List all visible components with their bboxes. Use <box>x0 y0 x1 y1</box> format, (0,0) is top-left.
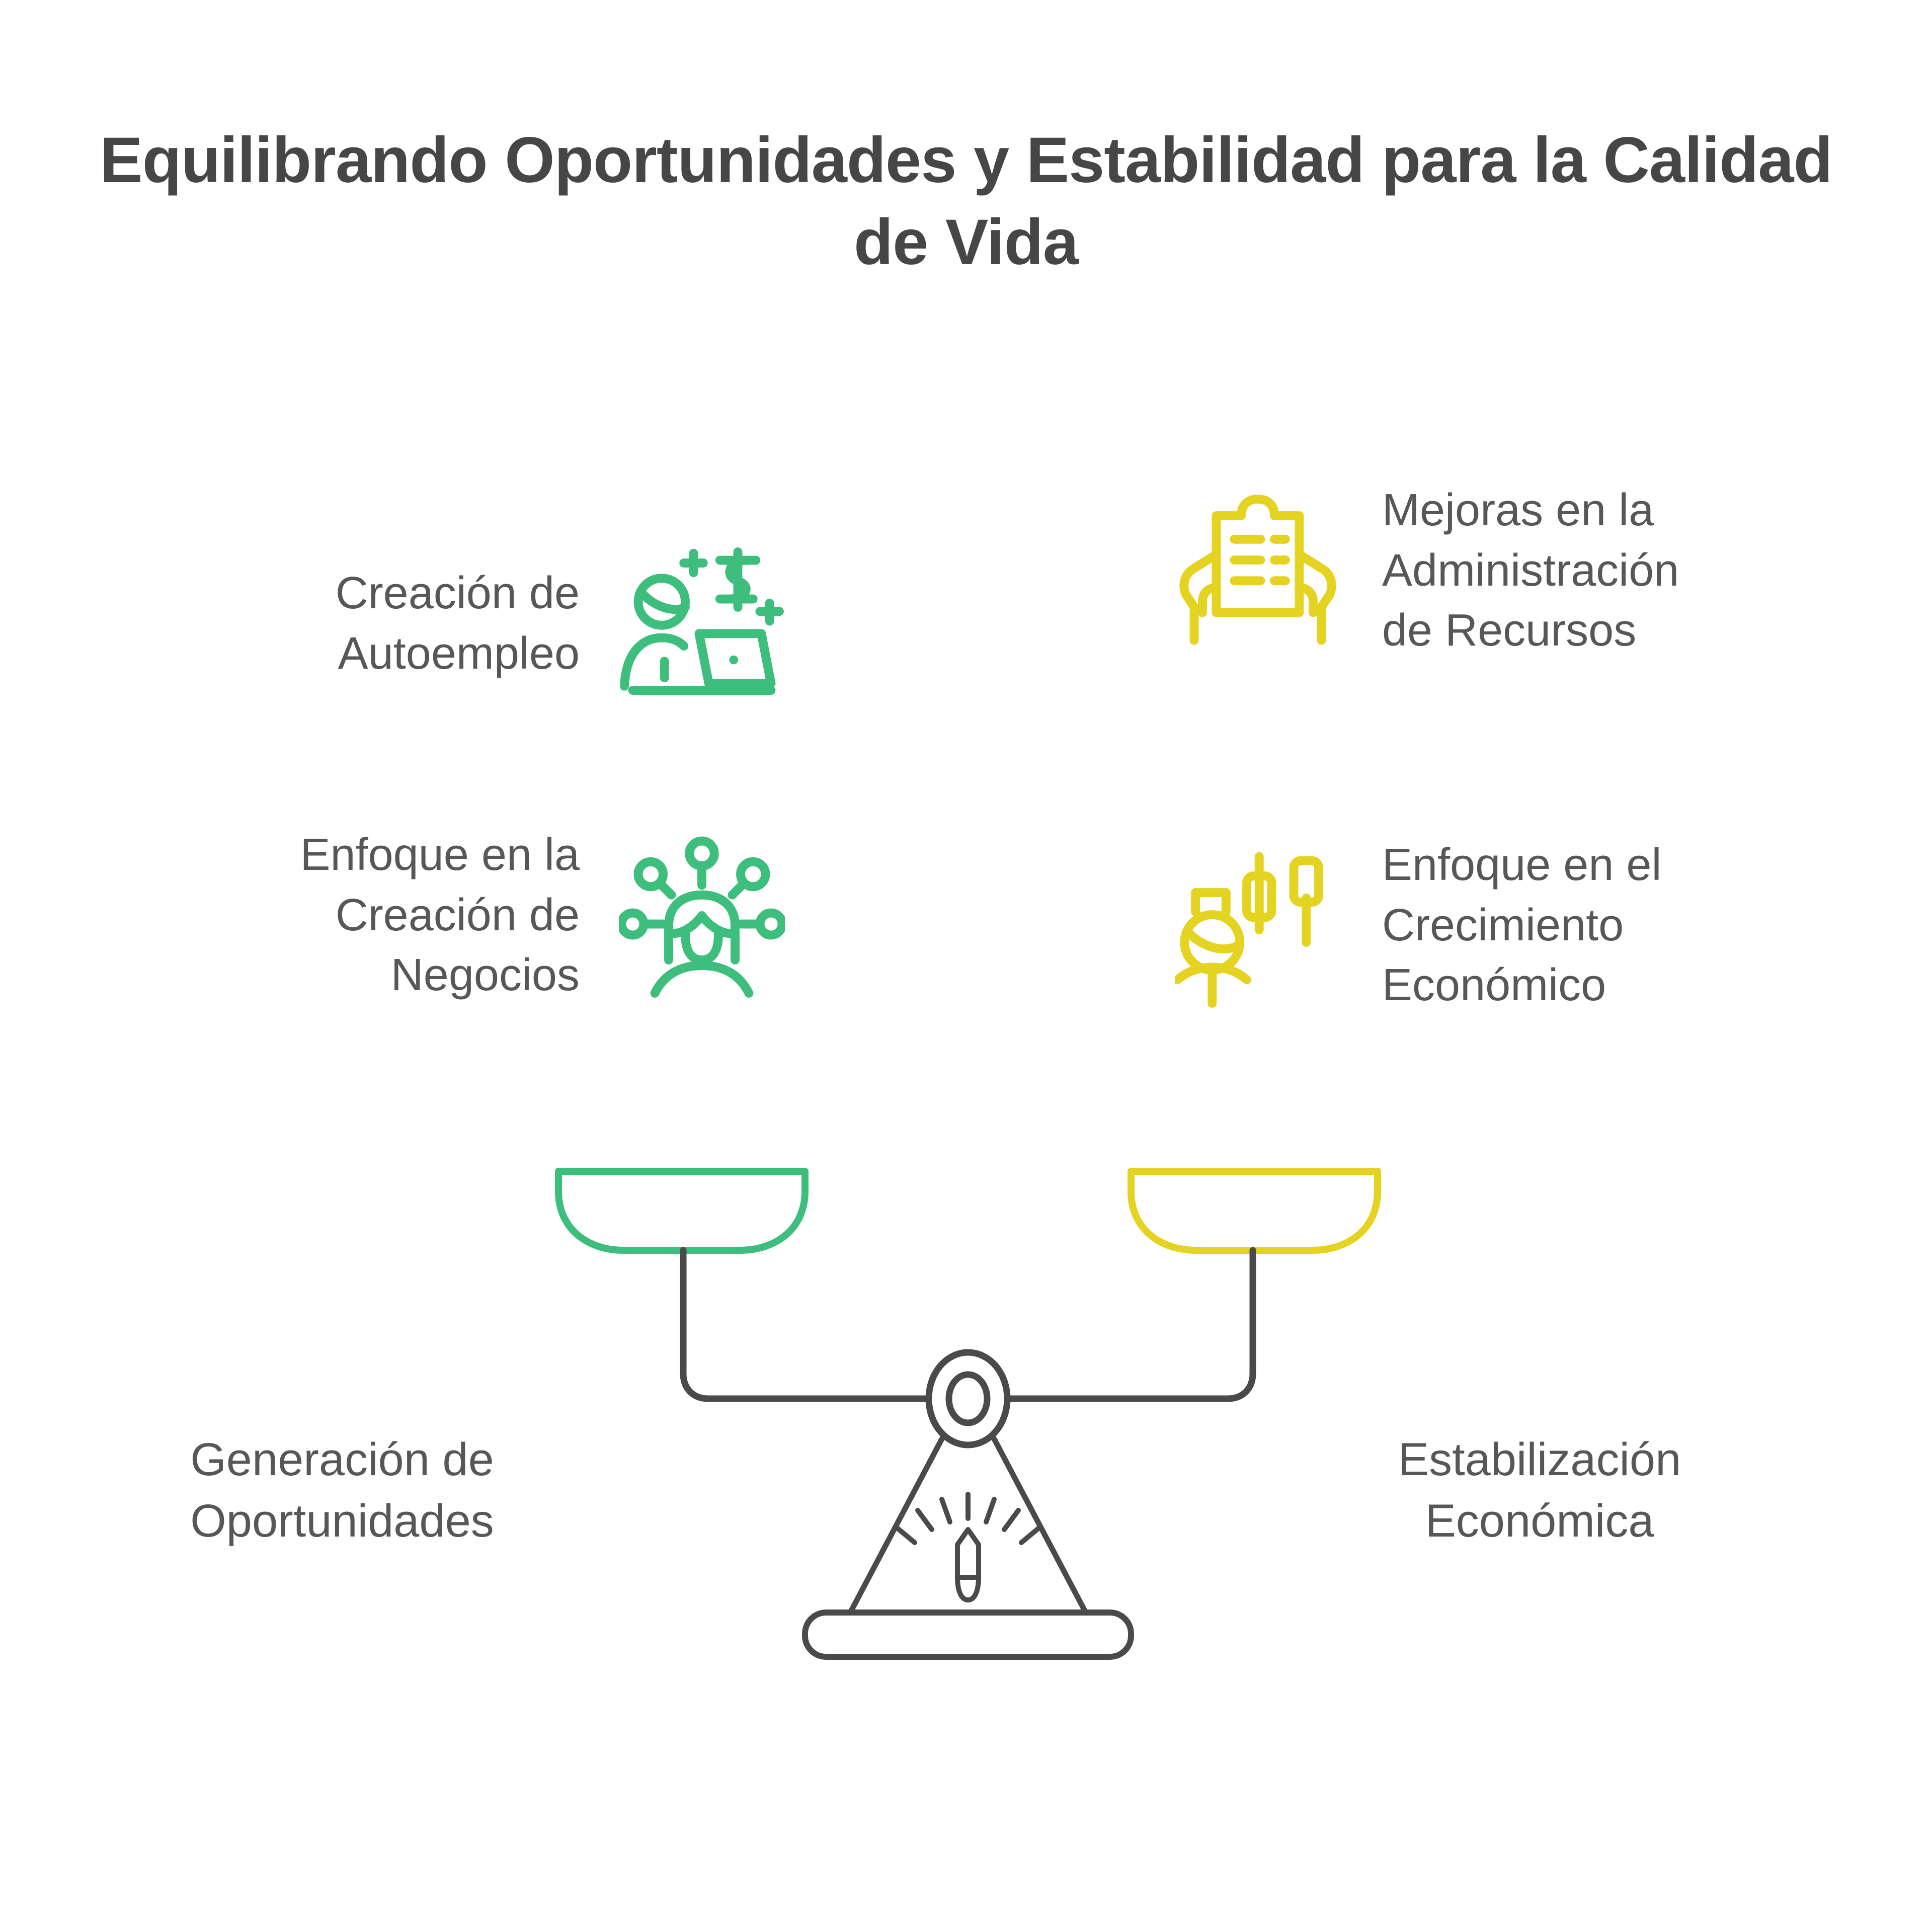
scale-label-left: Generación de Oportunidades <box>80 1429 604 1552</box>
feature-item-resource-management: Mejoras en la Administración de Recursos <box>1175 480 1824 661</box>
infographic-canvas: Equilibrando Oportunidades y Estabilidad… <box>0 0 1932 1932</box>
hands-holding-document-icon <box>1175 488 1341 654</box>
scale-needle <box>957 1530 979 1577</box>
feature-item-business-creation: Enfoque en la Creación de Negocios <box>151 825 785 1006</box>
scale-needle-base <box>957 1577 979 1600</box>
feature-label: Enfoque en el Crecimiento Económico <box>1382 835 1661 1016</box>
feature-label: Enfoque en la Creación de Negocios <box>300 825 580 1006</box>
feature-item-self-employment: Creación de Autoempleo <box>166 541 785 707</box>
scale-pivot-inner <box>949 1375 987 1423</box>
scale-base <box>805 1613 1131 1657</box>
watermark <box>1384 1706 1887 1887</box>
person-candlestick-chart-icon <box>1175 843 1341 1009</box>
scale-label-right: Estabilización Económica <box>1278 1429 1801 1552</box>
business-network-person-icon <box>619 833 785 999</box>
scale-beam-right <box>1000 1250 1253 1399</box>
feature-label: Mejoras en la Administración de Recursos <box>1382 480 1679 661</box>
balance-scale <box>553 1147 1384 1660</box>
scale-pan-right <box>1131 1171 1378 1250</box>
feature-item-economic-growth: Enfoque en el Crecimiento Económico <box>1175 835 1824 1016</box>
feature-label: Creación de Autoempleo <box>336 563 580 684</box>
scale-radiating-ticks <box>897 1494 1039 1543</box>
balance-scale-icon <box>553 1147 1384 1660</box>
page-title: Equilibrando Oportunidades y Estabilidad… <box>0 120 1932 283</box>
scale-beam-left <box>683 1250 936 1399</box>
self-employment-laptop-dollar-icon <box>619 541 785 707</box>
scale-pan-left <box>558 1171 805 1250</box>
